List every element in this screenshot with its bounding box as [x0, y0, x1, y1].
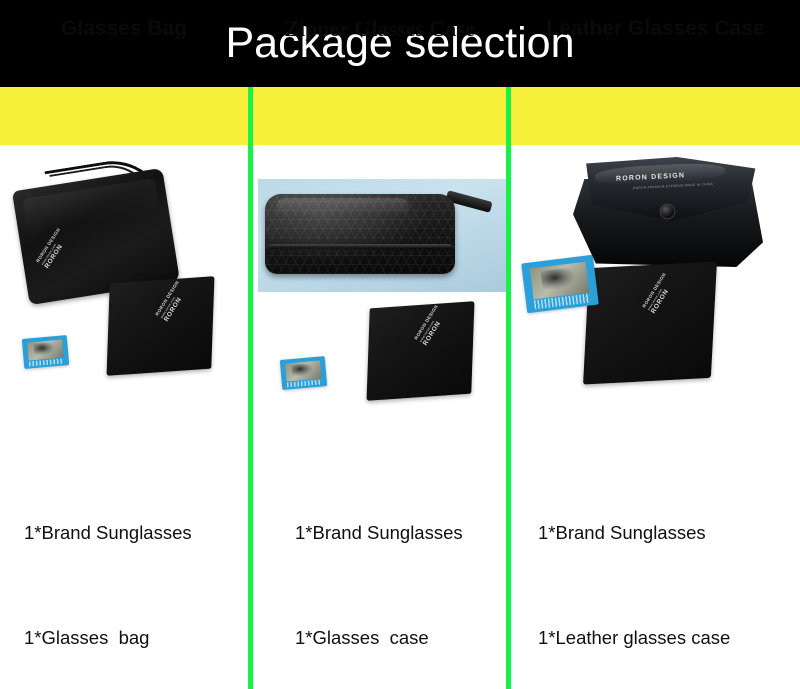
- list-item: 1*Leather glasses case: [538, 620, 800, 655]
- list-item: 1*Glasses bag: [24, 620, 272, 655]
- column-glasses-bag: RORON DESIGN www.roron.com RORON RORON D…: [0, 145, 248, 689]
- column-header-glasses-bag: Glasses Bag: [0, 0, 248, 58]
- zipper-line: [269, 244, 451, 248]
- product-photo-zipper-case: RORON DESIGN www.roron.com RORON: [253, 145, 506, 445]
- test-card-lens-window: [27, 339, 64, 361]
- leather-case-image: RORON DESIGN RORON PREMIUM EYEWEAR MADE …: [573, 157, 763, 272]
- cleaning-cloth-image: [107, 276, 215, 376]
- polarized-test-card-image: [280, 356, 327, 390]
- cleaning-cloth-image: [583, 261, 717, 384]
- hard-zipper-case-image: [265, 194, 455, 274]
- cleaning-cloth-image: [367, 301, 475, 401]
- list-item: 1*Brand Sunglasses: [24, 515, 272, 550]
- product-photo-leather-case: RORON DESIGN RORON PREMIUM EYEWEAR MADE …: [511, 145, 800, 445]
- column-leather-glasses-case: RORON DESIGN RORON PREMIUM EYEWEAR MADE …: [511, 145, 800, 689]
- column-header-zipper-glasses-case: Zipper Glasses Case: [253, 0, 506, 58]
- snap-stud-icon: [661, 205, 674, 218]
- polarized-test-card-image: [521, 255, 599, 313]
- polarized-test-card-image: [22, 335, 69, 369]
- list-item: 1*Brand Sunglasses: [538, 515, 800, 550]
- column-header-band: [0, 87, 800, 145]
- test-card-lens-window: [285, 360, 322, 382]
- column-zipper-glasses-case: RORON DESIGN www.roron.com RORON 1*Brand…: [253, 145, 506, 689]
- product-photo-glasses-bag: RORON DESIGN www.roron.com RORON RORON D…: [0, 145, 248, 445]
- case-highlight: [276, 198, 409, 216]
- spec-list-leather-case: 1*Brand Sunglasses 1*Leather glasses cas…: [511, 445, 800, 689]
- spec-list-zipper-case: 1*Brand Sunglasses 1*Glasses case 1*Glas…: [253, 445, 548, 689]
- zipper-case-photo-frame: [258, 179, 506, 292]
- package-selection-infographic: Package selection Glasses Bag Zipper Gla…: [0, 0, 800, 689]
- spec-list-glasses-bag: 1*Brand Sunglasses 1*Glasses bag 1*Glass…: [0, 445, 272, 689]
- column-header-leather-glasses-case: Leather Glasses Case: [511, 0, 800, 58]
